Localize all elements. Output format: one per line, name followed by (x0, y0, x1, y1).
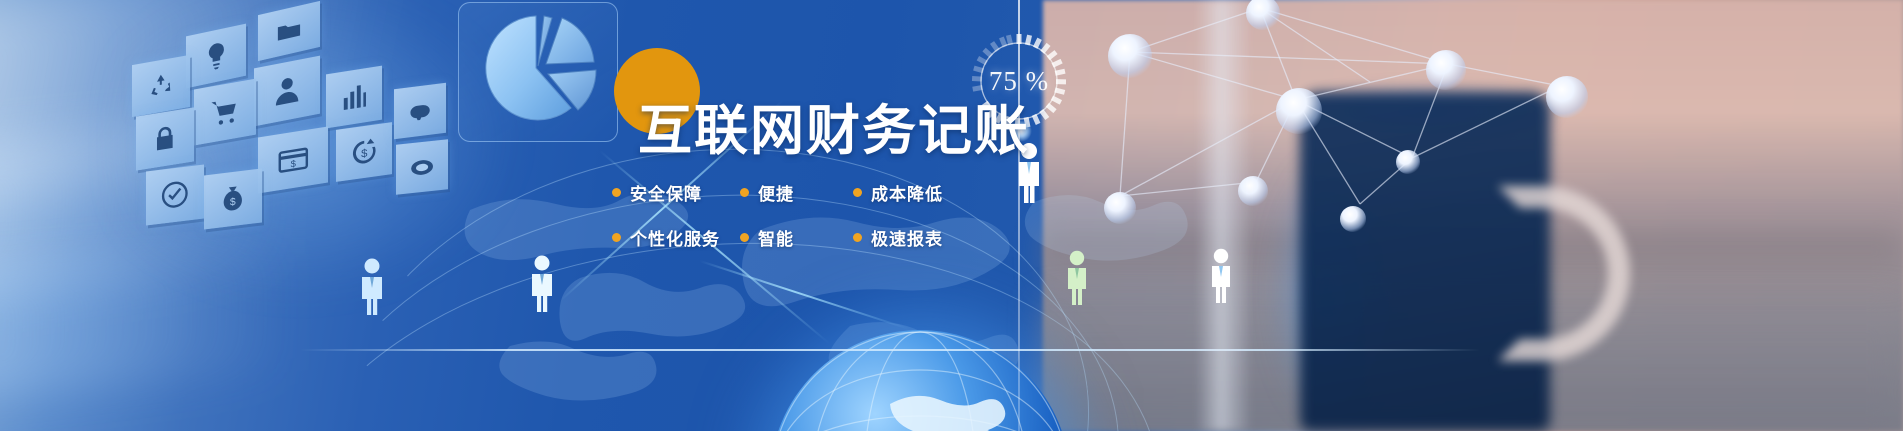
pie-chart (478, 10, 600, 132)
feature-label: 安全保障 (630, 180, 702, 205)
checkmark-icon (158, 177, 192, 212)
icon-tile-credit-card: $ (258, 126, 328, 193)
shopping-cart-icon (207, 93, 243, 132)
icon-tile-dollar-refresh: $ (336, 122, 392, 182)
icon-tile-checkmark (146, 164, 204, 225)
feature-label: 成本降低 (871, 180, 943, 205)
icon-tile-coin (396, 139, 448, 194)
icon-tile-bar-chart (326, 66, 382, 129)
bullet-dot-icon (853, 233, 862, 242)
coin-icon (407, 151, 437, 183)
network-node (1396, 150, 1420, 174)
icon-tile-piggy-bank (394, 83, 446, 139)
icon-tile-user (254, 56, 320, 127)
person-figure (1206, 248, 1236, 304)
person-figure (1062, 250, 1092, 306)
app-icon-cube: $ $ $ (150, 0, 480, 270)
credit-card-icon: $ (273, 141, 314, 180)
piggy-bank-icon (405, 95, 435, 128)
horizontal-base-line (300, 349, 1480, 351)
feature-item-personalized-service: 个性化服务 (612, 225, 740, 250)
globe-grid (770, 330, 1070, 431)
network-node (1340, 206, 1366, 232)
svg-text:$: $ (230, 197, 236, 209)
icon-tile-lightbulb (186, 24, 246, 89)
bullet-dot-icon (740, 188, 749, 197)
svg-text:$: $ (361, 148, 368, 161)
feature-list: 安全保障 便捷 成本降低 个性化服务 智能 极速报表 (612, 180, 1012, 250)
lightbulb-icon (199, 37, 234, 75)
feature-label: 便捷 (758, 180, 794, 205)
bar-chart-icon (338, 79, 370, 115)
dollar-refresh-icon: $ (348, 135, 380, 170)
svg-text:$: $ (290, 158, 296, 170)
feature-label: 智能 (758, 225, 794, 250)
icon-tile-cart (194, 79, 256, 146)
feature-item-security: 安全保障 (612, 180, 740, 205)
icon-tile-lock (136, 107, 194, 170)
feature-item-fast-reports: 极速报表 (853, 225, 973, 250)
user-icon (268, 70, 306, 111)
feature-row-1: 安全保障 便捷 成本降低 (612, 180, 1012, 205)
feature-item-cost-reduction: 成本降低 (853, 180, 973, 205)
feature-item-intelligent: 智能 (740, 225, 853, 250)
vertical-light-column (1196, 0, 1252, 431)
network-node (1108, 34, 1152, 78)
person-figure (526, 255, 558, 313)
network-node (1276, 88, 1322, 134)
icon-tile-recycle (132, 55, 190, 117)
icon-tile-folder (258, 1, 320, 61)
network-node (1546, 76, 1588, 118)
vertical-divider-line (1018, 0, 1020, 431)
feature-row-2: 个性化服务 智能 极速报表 (612, 225, 1012, 250)
lock-icon (148, 121, 182, 158)
promo-banner: $ $ $ (0, 0, 1903, 431)
bullet-dot-icon (740, 233, 749, 242)
bullet-dot-icon (612, 188, 621, 197)
feature-item-convenient: 便捷 (740, 180, 853, 205)
network-node (1104, 192, 1136, 224)
icon-tile-money-bag: $ (204, 168, 262, 229)
feature-label: 个性化服务 (630, 225, 720, 250)
recycle-icon (144, 68, 178, 104)
feature-label: 极速报表 (871, 225, 943, 250)
folder-icon (271, 14, 307, 49)
bullet-dot-icon (612, 233, 621, 242)
globe-3d (770, 330, 1070, 431)
person-figure (356, 258, 388, 316)
network-node (1426, 50, 1466, 90)
money-bag-icon: $ (216, 181, 250, 216)
bullet-dot-icon (853, 188, 862, 197)
page-title: 互联网财务记账 (638, 104, 1030, 158)
